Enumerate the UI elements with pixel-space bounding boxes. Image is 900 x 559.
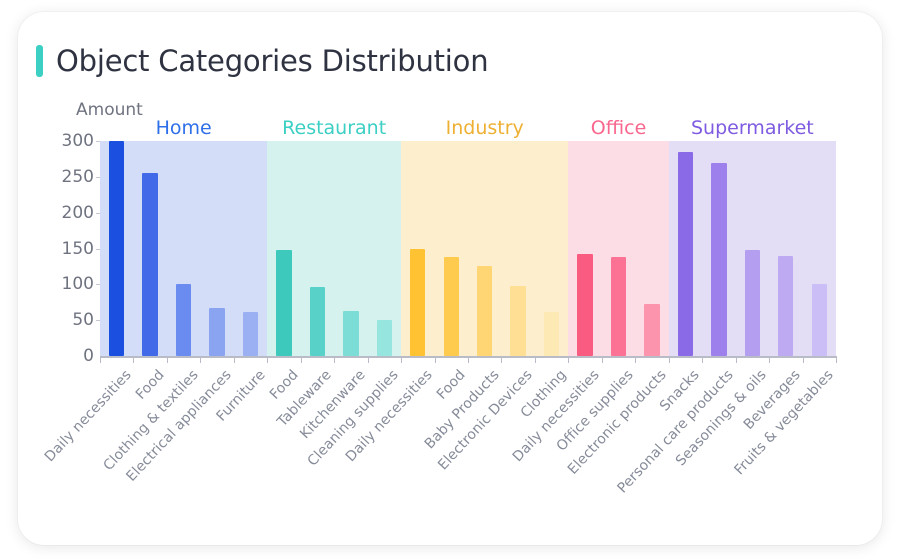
y-axis-title: Amount bbox=[76, 100, 143, 120]
title-accent-bar bbox=[36, 45, 43, 77]
x-axis-tick-mark bbox=[635, 356, 636, 363]
bar[interactable] bbox=[678, 152, 693, 356]
x-axis-tick-mark bbox=[167, 356, 168, 363]
x-axis-tick-mark bbox=[133, 356, 134, 363]
x-axis-tick-mark bbox=[501, 356, 502, 363]
group-label-office: Office bbox=[591, 117, 646, 139]
x-axis-tick-mark bbox=[368, 356, 369, 363]
y-axis-tick-mark bbox=[96, 141, 100, 142]
group-label-supermarket: Supermarket bbox=[691, 117, 814, 139]
bar[interactable] bbox=[377, 320, 392, 356]
group-label-industry: Industry bbox=[446, 117, 524, 139]
bar[interactable] bbox=[142, 173, 157, 356]
bar[interactable] bbox=[310, 287, 325, 356]
bar[interactable] bbox=[109, 141, 124, 356]
x-axis-tick-mark bbox=[669, 356, 670, 363]
x-axis-tick-mark bbox=[401, 356, 402, 363]
bar[interactable] bbox=[544, 312, 559, 356]
group-label-restaurant: Restaurant bbox=[282, 117, 386, 139]
x-axis-tick-mark bbox=[769, 356, 770, 363]
x-axis-tick-mark bbox=[736, 356, 737, 363]
bar[interactable] bbox=[176, 284, 191, 356]
bar[interactable] bbox=[477, 266, 492, 356]
y-axis-tick-label: 200 bbox=[48, 203, 94, 223]
x-axis-tick-mark bbox=[535, 356, 536, 363]
bar[interactable] bbox=[410, 249, 425, 357]
bar[interactable] bbox=[343, 311, 358, 356]
x-axis-tick-mark bbox=[803, 356, 804, 363]
y-axis-tick-mark bbox=[96, 249, 100, 250]
bar[interactable] bbox=[711, 163, 726, 357]
chart-header: Object Categories Distribution bbox=[36, 44, 488, 78]
y-axis-tick-label: 250 bbox=[48, 167, 94, 187]
x-axis-tick-mark bbox=[334, 356, 335, 363]
y-axis-tick-label: 100 bbox=[48, 274, 94, 294]
x-axis-tick-mark bbox=[435, 356, 436, 363]
y-axis-tick-mark bbox=[96, 320, 100, 321]
chart-card: Object Categories Distribution Amount 05… bbox=[18, 12, 882, 545]
x-axis-tick-mark bbox=[200, 356, 201, 363]
bar[interactable] bbox=[644, 304, 659, 356]
x-axis-tick-mark bbox=[568, 356, 569, 363]
y-axis-tick-mark bbox=[96, 177, 100, 178]
x-axis-tick-mark bbox=[267, 356, 268, 363]
y-axis-tick-mark bbox=[96, 284, 100, 285]
group-label-home: Home bbox=[156, 117, 212, 139]
y-axis: 050100150200250300 bbox=[38, 141, 94, 356]
bar[interactable] bbox=[209, 308, 224, 356]
bar[interactable] bbox=[510, 286, 525, 356]
bar[interactable] bbox=[444, 257, 459, 356]
plot-area bbox=[100, 141, 836, 356]
bar[interactable] bbox=[812, 284, 827, 356]
y-axis-tick-label: 0 bbox=[48, 346, 94, 366]
bar[interactable] bbox=[276, 250, 291, 356]
x-axis-tick-mark bbox=[836, 356, 837, 363]
x-axis-tick-mark bbox=[602, 356, 603, 363]
x-axis-tick-mark bbox=[702, 356, 703, 363]
bar[interactable] bbox=[577, 254, 592, 356]
y-axis-tick-label: 300 bbox=[48, 131, 94, 151]
bar[interactable] bbox=[611, 257, 626, 356]
y-axis-tick-label: 50 bbox=[48, 310, 94, 330]
x-axis-tick-mark bbox=[468, 356, 469, 363]
x-axis-tick-mark bbox=[301, 356, 302, 363]
y-axis-tick-mark bbox=[96, 213, 100, 214]
x-axis-tick-mark bbox=[100, 356, 101, 363]
x-axis-tick-mark bbox=[234, 356, 235, 363]
bar[interactable] bbox=[745, 250, 760, 356]
bar[interactable] bbox=[243, 312, 258, 356]
y-axis-tick-label: 150 bbox=[48, 239, 94, 259]
bar[interactable] bbox=[778, 256, 793, 356]
page-title: Object Categories Distribution bbox=[56, 44, 488, 78]
